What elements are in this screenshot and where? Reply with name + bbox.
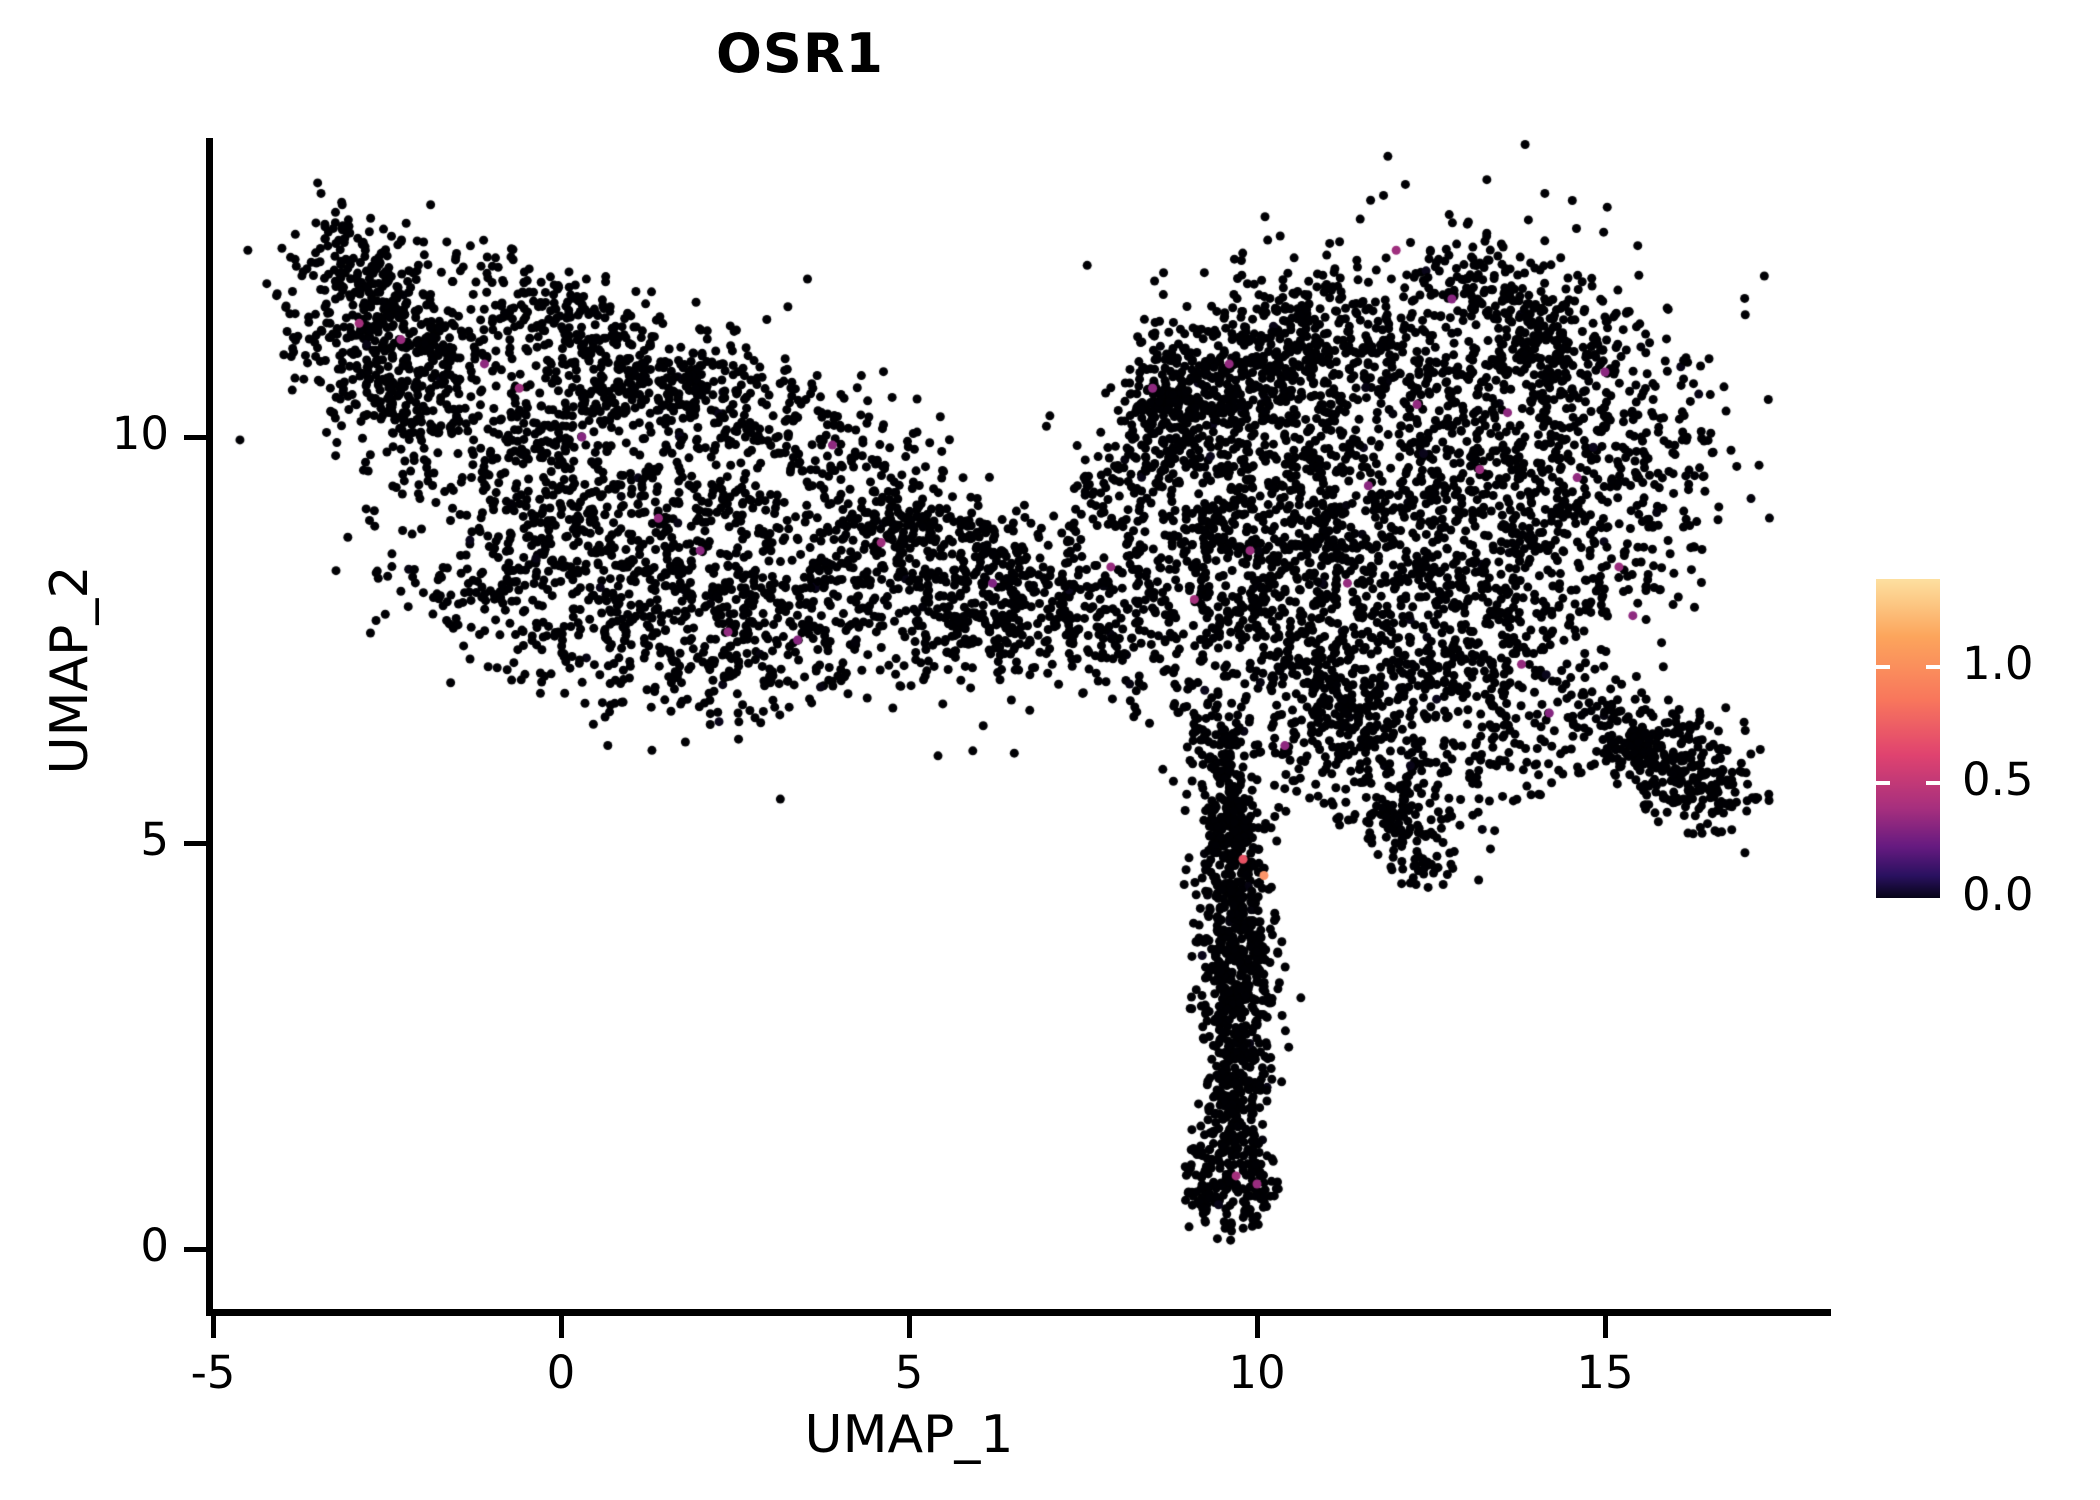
y-tick-5 [184,841,206,846]
x-tick-label-0: 0 [481,1346,641,1399]
colorbar-tick-right-0.5 [1926,781,1940,785]
x-tick-label-10: 10 [1177,1346,1337,1399]
scatter-canvas [0,0,2100,1500]
y-tick-0 [184,1247,206,1252]
x-tick--5 [211,1316,216,1338]
colorbar-tick-label-0.0: 0.0 [1962,868,2034,921]
colorbar-tick-left-1.0 [1876,665,1890,669]
x-axis-spine [206,1309,1831,1316]
y-axis-spine [206,138,213,1316]
colorbar-tick-label-1.0: 1.0 [1962,637,2034,690]
y-axis-label: UMAP_2 [40,320,100,1020]
x-tick-label-5: 5 [829,1346,989,1399]
x-axis-label: UMAP_1 [213,1405,1605,1465]
y-tick-10 [184,435,206,440]
y-tick-label-0: 0 [9,1219,169,1272]
x-tick-0 [559,1316,564,1338]
x-tick-label--5: -5 [133,1346,293,1399]
figure-root: OSR1 -5051015 0510 UMAP_1 UMAP_2 0.00.51… [0,0,2100,1500]
colorbar-gradient [1876,579,1940,898]
x-tick-10 [1255,1316,1260,1338]
colorbar-tick-left-0.5 [1876,781,1890,785]
colorbar-tick-label-0.5: 0.5 [1962,753,2034,806]
x-tick-15 [1603,1316,1608,1338]
colorbar-tick-right-1.0 [1926,665,1940,669]
x-tick-label-15: 15 [1525,1346,1685,1399]
x-tick-5 [907,1316,912,1338]
